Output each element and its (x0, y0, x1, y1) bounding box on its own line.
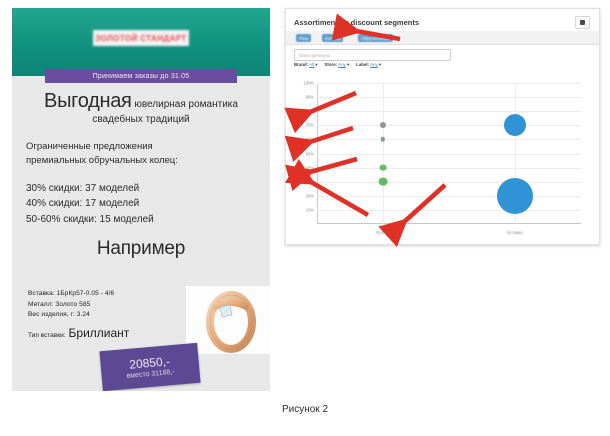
filter-label[interactable]: Label: Any ▾ (356, 62, 381, 68)
example-heading: Например (12, 238, 270, 260)
y-tick-label: 20% (290, 193, 314, 198)
data-point[interactable] (381, 137, 385, 141)
gridline (317, 97, 581, 98)
filter-row: Brand: All ▾ Store: Any ▾ Label: Any ▾ (294, 62, 381, 68)
gridline (317, 139, 581, 140)
headline-rest: ювелирная романтика (134, 99, 238, 110)
dashboard-tabbar: Ріна Кольца Обручальные (286, 31, 599, 45)
gridline (317, 125, 581, 126)
y-tick-label: 60% (290, 137, 314, 142)
offer-description-line-2: премиальных обручальных колец: (26, 154, 270, 168)
headline-line-2: свадебных традиций (20, 114, 262, 125)
gridline (317, 210, 581, 211)
data-point[interactable] (379, 177, 388, 186)
filter-label-value[interactable]: Any (370, 62, 378, 67)
plot-area: 100%90%80%70%60%50%40%30%20%10% КольцаВс… (286, 71, 599, 244)
gridline (317, 83, 581, 84)
tab-rings-main[interactable]: Ріна (296, 34, 311, 42)
promo-flyer: ЗОЛОТОЙ СТАНДАРТ Принимаем заказы до 31.… (12, 8, 270, 391)
headline-strong: Выгодная (44, 90, 132, 112)
ring-illustration (186, 286, 270, 354)
ring-product-photo (186, 286, 270, 354)
spec-insert-type: Тип вставки: Бриллиант (28, 326, 178, 340)
brand-logo: ЗОЛОТОЙ СТАНДАРТ (93, 30, 189, 46)
discount-list: 30% скидки: 37 моделей 40% скидки: 17 мо… (26, 181, 270, 228)
gear-icon[interactable] (575, 16, 590, 29)
filter-brand-value[interactable]: All (309, 62, 314, 67)
y-tick-label: 90% (290, 95, 314, 100)
y-tick-label: 80% (290, 109, 314, 114)
price-badge: 20850,- вместо 31188,- (99, 343, 200, 391)
brand-logo-text: ЗОЛОТОЙ СТАНДАРТ (95, 34, 186, 43)
filter-store-value[interactable]: Any (338, 62, 346, 67)
x-axis-line (317, 223, 581, 224)
discount-item: 30% скидки: 37 моделей (26, 181, 270, 197)
filter-store[interactable]: Store: Any ▾ (324, 62, 349, 68)
order-deadline-text: Принимаем заказы до 31.05 (93, 73, 190, 80)
offer-description: Ограниченные предложения премиальных обр… (26, 140, 270, 168)
spec-metal: Металл: Золото 585 (28, 300, 178, 311)
dashboard-title: Assortiment by discount segments (294, 18, 419, 27)
headline-block: Выгодная ювелирная романтика свадебных т… (12, 90, 270, 125)
filter-brand-label: Brand: (294, 62, 308, 67)
data-point[interactable] (380, 164, 387, 171)
y-tick-label: 10% (290, 207, 314, 212)
spec-insert-type-label: Тип вставки: (28, 332, 66, 339)
tab-wedding-rings[interactable]: Обручальные (358, 34, 393, 42)
analytics-dashboard: Assortiment by discount segments Ріна Ко… (285, 8, 600, 245)
headline-line-1: Выгодная ювелирная романтика (20, 90, 262, 113)
data-point[interactable] (504, 114, 526, 136)
figure-caption: Рисунок 2 (0, 404, 610, 415)
gridline (317, 168, 581, 169)
x-tick-label: Кольца (376, 230, 390, 235)
filter-store-label: Store: (324, 62, 337, 67)
scatter-chart: 100%90%80%70%60%50%40%30%20%10% КольцаВс… (286, 71, 599, 244)
gear-glyph (580, 20, 585, 25)
data-point[interactable] (380, 122, 386, 128)
discount-item: 50-60% скидки: 15 моделей (26, 212, 270, 228)
tab-rings[interactable]: Кольца (322, 34, 343, 42)
gridline (317, 111, 581, 112)
spec-insert-type-value: Бриллиант (69, 326, 130, 340)
y-tick-label: 40% (290, 165, 314, 170)
data-point[interactable] (497, 178, 533, 214)
y-tick-label: 70% (290, 123, 314, 128)
flyer-banner: ЗОЛОТОЙ СТАНДАРТ (12, 8, 270, 76)
order-deadline-ribbon: Принимаем заказы до 31.05 (45, 69, 237, 83)
spec-weight: Вес изделия, г: 3.24 (28, 310, 178, 321)
search-placeholder: Поиск артикула (298, 53, 330, 58)
gridline (317, 182, 581, 183)
filter-brand[interactable]: Brand: All ▾ (294, 62, 317, 68)
spec-insert: Вставка: 1БрКр57-0.05 - 4/6 (28, 289, 178, 300)
y-tick-label: 100% (290, 81, 314, 86)
x-tick-label: Вставка (507, 230, 523, 235)
gridline (317, 154, 581, 155)
search-input[interactable]: Поиск артикула (294, 49, 451, 61)
y-tick-label: 50% (290, 151, 314, 156)
category-line (383, 83, 384, 224)
product-specs: Вставка: 1БрКр57-0.05 - 4/6 Металл: Золо… (28, 289, 178, 340)
discount-item: 40% скидки: 17 моделей (26, 196, 270, 212)
filter-label-label: Label: (356, 62, 369, 67)
offer-description-line-1: Ограниченные предложения (26, 140, 270, 154)
gridline (317, 196, 581, 197)
y-tick-label: 30% (290, 179, 314, 184)
